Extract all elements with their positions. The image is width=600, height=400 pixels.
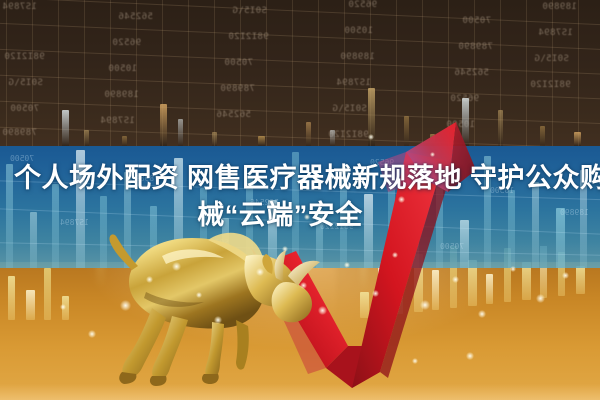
bar-column — [8, 276, 15, 320]
grid-line-vertical — [526, 0, 527, 146]
ticker-number: 789890 — [2, 128, 37, 138]
bar-column — [62, 296, 69, 320]
ticker-number: 189890 — [542, 2, 577, 12]
article-banner-image: 1S7894S0I5\G98I2I20705007898905625469652… — [0, 0, 600, 400]
grid-line-vertical — [188, 0, 189, 146]
ticker-number: S0I5\G — [232, 6, 267, 16]
grid-line-vertical — [58, 0, 59, 146]
ticker-number: 70500 — [10, 104, 39, 114]
bar-column — [540, 126, 545, 146]
ticker-number: 1S7894 — [2, 2, 37, 12]
bar-column — [160, 104, 167, 146]
bar-column — [486, 274, 493, 304]
headline-line-1: 个人场外配资 网售医疗器械新规落地 守护公众购 — [0, 160, 600, 197]
bar-column — [26, 290, 35, 320]
bar-column — [498, 110, 503, 146]
ticker-number: 70500 — [224, 58, 253, 68]
bar-column — [62, 110, 69, 146]
ticker-number: 1S7894 — [538, 28, 573, 38]
ticker-number: 189890 — [104, 90, 139, 100]
ticker-number: 98I2I20 — [530, 80, 571, 90]
bar-column — [44, 268, 51, 320]
bar-column — [212, 132, 217, 146]
grid-line-horizontal — [0, 48, 600, 76]
ticker-number: 96520 — [348, 0, 377, 10]
bar-column — [84, 130, 89, 146]
page-title: 个人场外配资 网售医疗器械新规落地 守护公众购 械“云端”安全 — [0, 160, 600, 234]
grid-line-vertical — [84, 0, 85, 146]
ticker-number: 789890 — [458, 42, 493, 52]
ticker-number: 789890 — [220, 84, 255, 94]
grid-line-horizontal — [0, 0, 600, 27]
ticker-number: 562546 — [118, 12, 153, 22]
grid-line-horizontal — [0, 22, 600, 52]
ticker-number: S0I5\G — [534, 54, 569, 64]
ticker-number: 1S7894 — [100, 116, 135, 126]
grid-line-vertical — [214, 0, 215, 146]
bar-column — [122, 136, 127, 146]
bar-column — [574, 132, 581, 146]
ticker-number: 189890 — [340, 52, 375, 62]
ticker-number: 10500 — [344, 26, 373, 36]
bar-column — [178, 119, 183, 146]
headline-line-2: 械“云端”安全 — [0, 197, 600, 234]
grid-line-vertical — [6, 0, 7, 146]
ticker-number: S0I5\G — [8, 78, 43, 88]
grid-line-vertical — [32, 0, 33, 146]
ticker-number: 98I2I20 — [228, 32, 269, 42]
ticker-number: 96520 — [112, 38, 141, 48]
ticker-number: 562546 — [454, 68, 489, 78]
ticker-number: 1S7894 — [336, 78, 371, 88]
ticker-number: 10500 — [108, 64, 137, 74]
ticker-number: 70500 — [462, 16, 491, 26]
bar-column — [576, 266, 585, 294]
ticker-number: 98I2I20 — [4, 52, 45, 62]
